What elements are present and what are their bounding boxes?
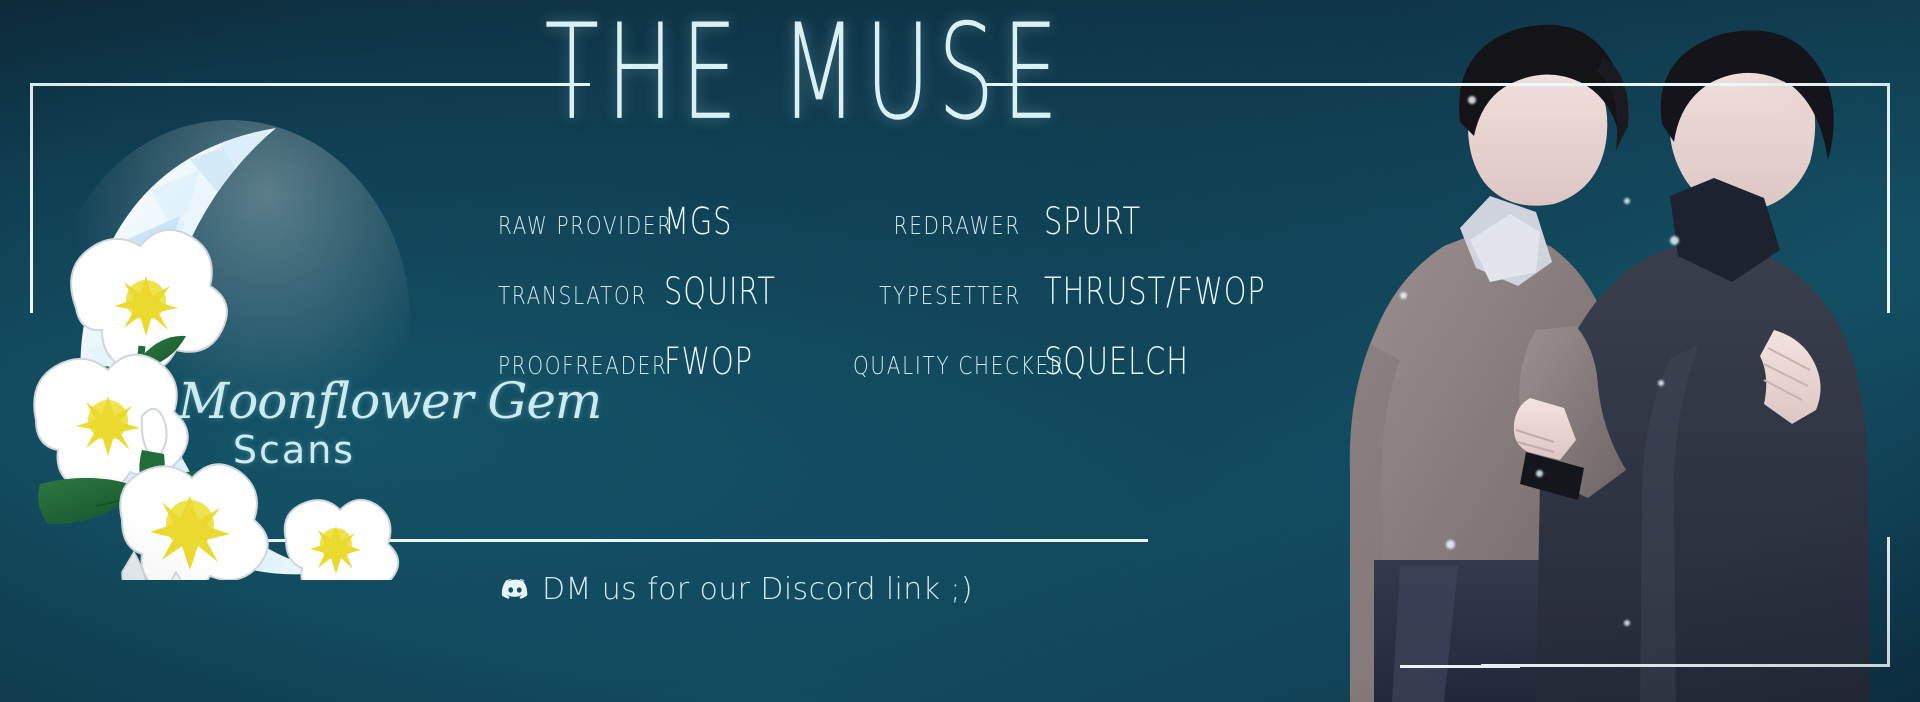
sparkle: [1446, 540, 1455, 549]
credit-name-value: SPURT: [1044, 200, 1141, 243]
credit-role-label: TRANSLATOR: [498, 281, 642, 310]
discord-icon: [500, 575, 530, 605]
credit-raw-provider: RAW PROVIDER MGS: [498, 200, 853, 243]
credit-name-value: SQUIRT: [664, 270, 776, 313]
page-title: THE MUSE: [645, 0, 965, 150]
credit-redrawer: REDRAWER SPURT: [853, 200, 1213, 243]
credit-name-value: MGS: [664, 200, 732, 243]
credits-list: RAW PROVIDER MGS REDRAWER SPURT TRANSLAT…: [498, 200, 1218, 410]
moonflower-gem-logo: Moonflower Gem Scans: [30, 120, 460, 580]
credit-role-label: QUALITY CHECKER: [853, 351, 1021, 380]
page-title-text: THE MUSE: [544, 7, 1065, 139]
credit-quality-checker: QUALITY CHECKER SQUELCH: [853, 340, 1213, 383]
crescent-moon-icon: [30, 120, 460, 580]
credit-name-value: SQUELCH: [1044, 340, 1189, 383]
frame-bracket-bottom-right: [1481, 537, 1890, 667]
discord-text: DM us for our Discord link ;): [542, 572, 973, 607]
credit-name-value: THRUST/FWOP: [1044, 270, 1266, 313]
credit-translator: TRANSLATOR SQUIRT: [498, 270, 853, 313]
credits-row: PROOFREADER FWOP QUALITY CHECKER SQUELCH: [498, 340, 1218, 410]
credit-role-label: TYPESETTER: [853, 281, 1021, 310]
logo-name-line2: Scans: [140, 432, 448, 468]
credit-role-label: PROOFREADER: [498, 351, 642, 380]
sparkle: [1536, 470, 1543, 477]
credit-role-label: REDRAWER: [853, 211, 1021, 240]
credits-row: RAW PROVIDER MGS REDRAWER SPURT: [498, 200, 1218, 270]
credit-typesetter: TYPESETTER THRUST/FWOP: [853, 270, 1213, 313]
credit-name-value: FWOP: [664, 340, 753, 383]
credits-row: TRANSLATOR SQUIRT TYPESETTER THRUST/FWOP: [498, 270, 1218, 340]
credits-banner: THE MUSE: [0, 0, 1920, 702]
credit-role-label: RAW PROVIDER: [498, 211, 642, 240]
discord-callout[interactable]: DM us for our Discord link ;): [500, 572, 973, 607]
credit-proofreader: PROOFREADER FWOP: [498, 340, 853, 383]
flower: [285, 500, 398, 580]
flower: [120, 464, 267, 580]
logo-wordmark: Moonflower Gem Scans: [178, 378, 448, 468]
sparkle: [1658, 380, 1664, 386]
